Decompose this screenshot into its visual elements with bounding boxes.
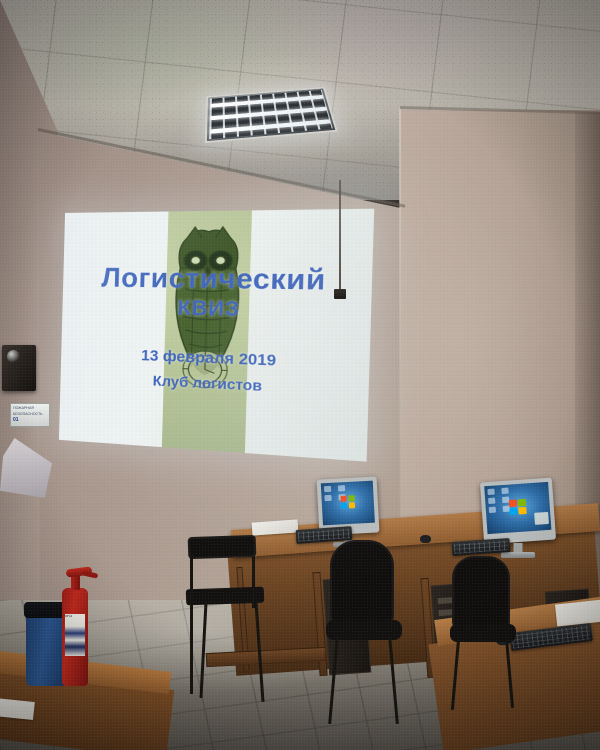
slide-text-block: Логистический КВИЗ 13 февраля 2019 Клуб … — [59, 209, 374, 462]
monitor-2-base — [501, 552, 535, 558]
desktop-notepad-window[interactable] — [534, 512, 549, 525]
windows-logo-icon — [509, 499, 527, 515]
paper-stack — [555, 600, 600, 627]
fire-extinguisher: ОП-2 — [62, 588, 88, 686]
chair-3-backrest — [452, 556, 510, 628]
room-scene: Логистический КВИЗ 13 февраля 2019 Клуб … — [0, 0, 600, 750]
mouse-1[interactable] — [420, 535, 431, 543]
monitor-2[interactable] — [482, 480, 554, 542]
projected-slide: Логистический КВИЗ 13 февраля 2019 Клуб … — [59, 209, 374, 462]
cable-connector-icon — [334, 289, 346, 299]
sign-line-3: план эвакуации — [13, 425, 47, 427]
hanging-cable — [339, 180, 341, 292]
paper-stack — [0, 698, 35, 720]
monitor-2-display[interactable] — [484, 482, 551, 534]
slide-subtitle: КВИЗ — [177, 297, 240, 323]
slide-title: Логистический — [101, 264, 326, 296]
windows-logo-icon — [340, 495, 355, 509]
monitor-1-display[interactable] — [321, 481, 375, 526]
chair-2-backrest — [330, 540, 394, 624]
slide-organizer: Клуб логистов — [153, 372, 263, 394]
extinguisher-neck — [71, 576, 80, 590]
sensor-lens-icon — [7, 350, 20, 363]
wall-mounted-sensor-icon — [2, 345, 36, 391]
sign-line-2: 01 — [13, 417, 19, 423]
monitor-2-bezel — [480, 478, 556, 545]
sign-line-1: ПОЖАРНАЯ БЕЗОПАСНОСТЬ — [13, 406, 47, 417]
slide-date: 13 февраля 2019 — [141, 346, 276, 369]
chair-1-backrest — [188, 535, 257, 559]
extinguisher-label: ОП-2 — [65, 614, 85, 656]
wall-sign: ПОЖАРНАЯ БЕЗОПАСНОСТЬ 01 план эвакуации — [10, 403, 50, 427]
